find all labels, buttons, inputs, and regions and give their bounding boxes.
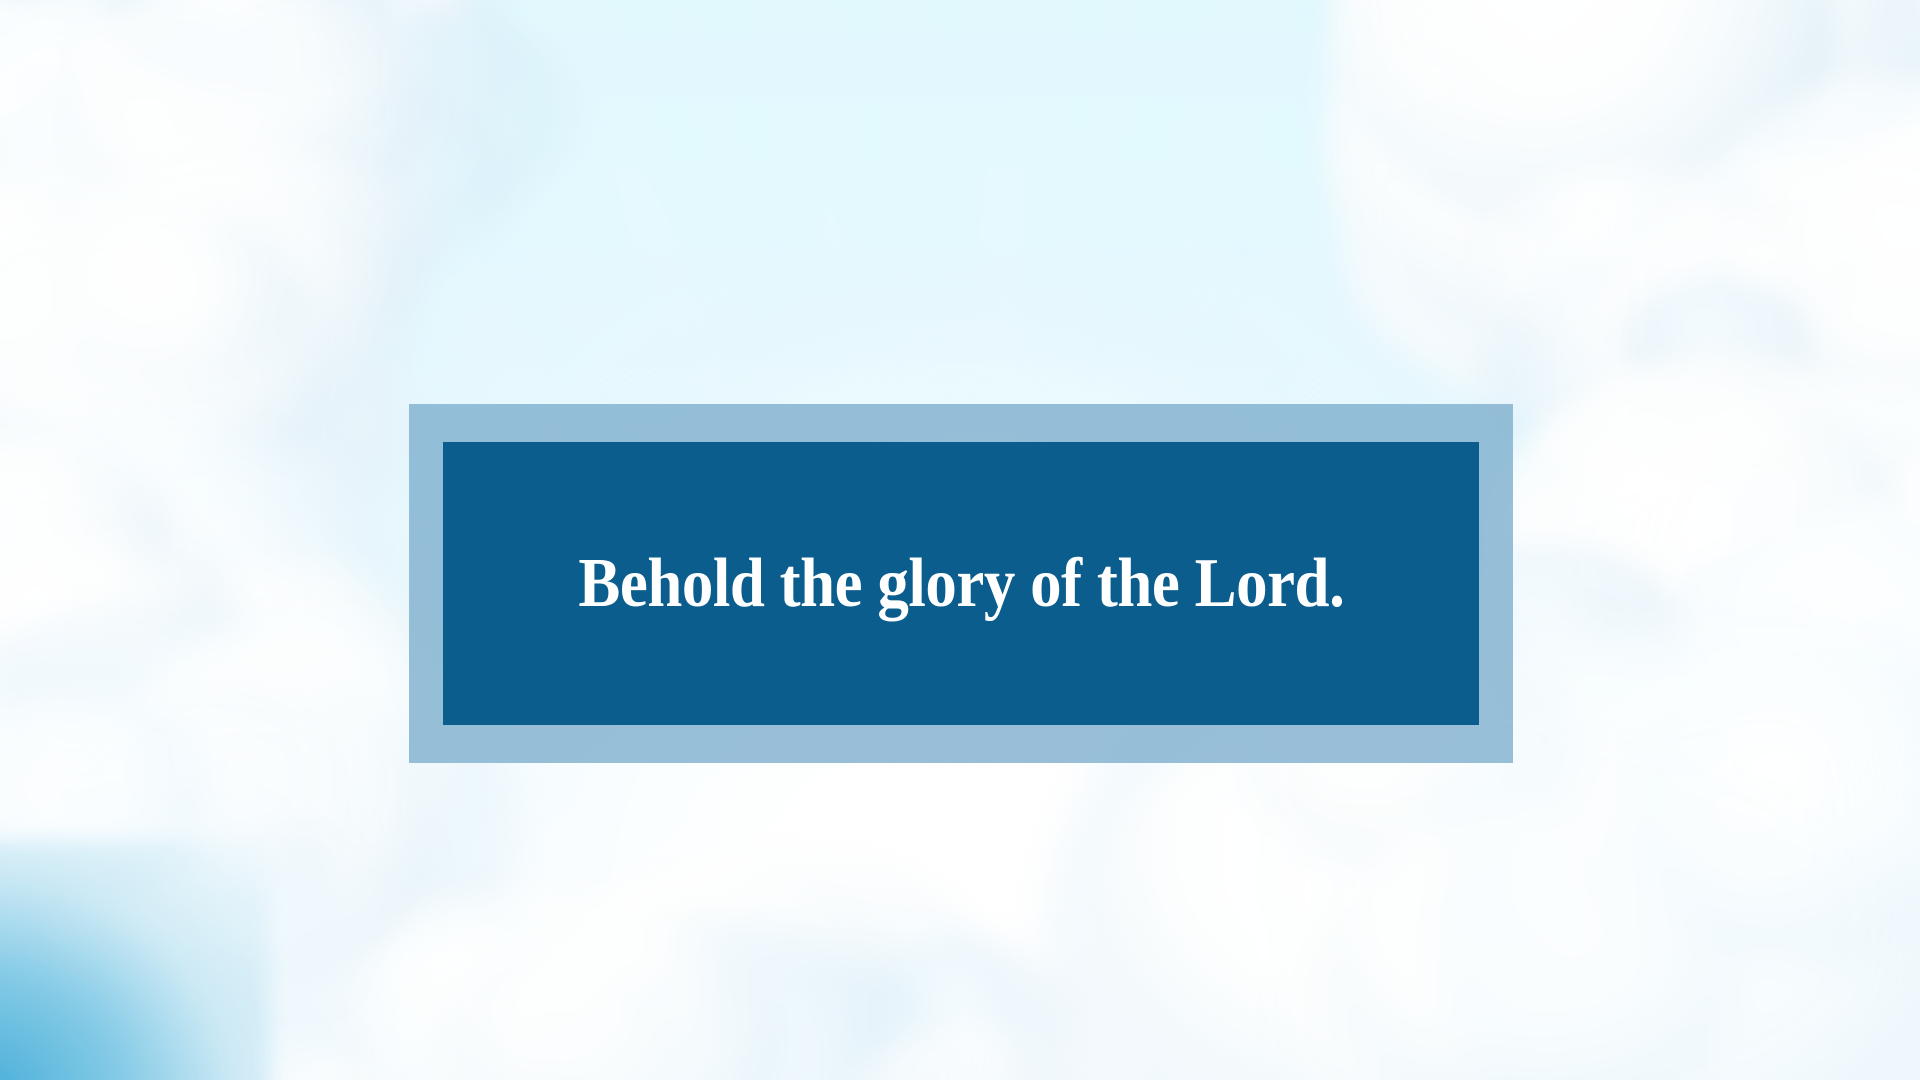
quote-box: Behold the glory of the Lord. — [443, 442, 1479, 725]
quote-frame: Behold the glory of the Lord. — [409, 404, 1513, 763]
quote-text: Behold the glory of the Lord. — [569, 545, 1353, 622]
sky-corner-top-right-tint — [1520, 0, 1920, 360]
sky-corner-bottom-left-accent — [0, 840, 270, 1080]
slide-canvas: Behold the glory of the Lord. — [0, 0, 1920, 1080]
sky-corner-top-left-tint — [0, 0, 400, 300]
